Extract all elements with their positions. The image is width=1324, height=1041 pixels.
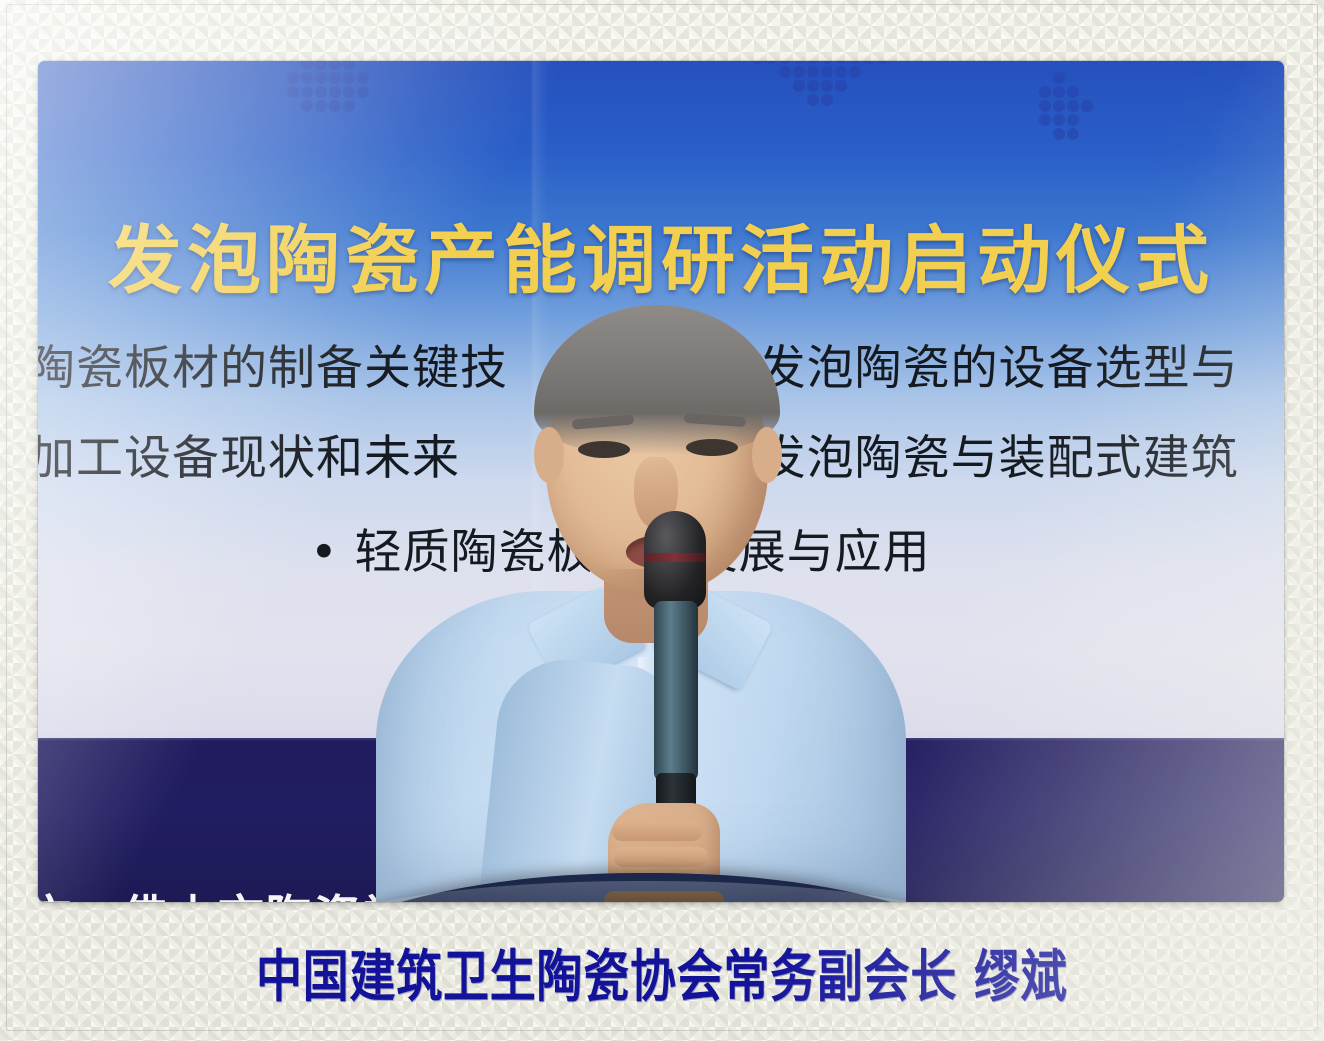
caption-bar: 中国建筑卫生陶瓷协会常务副会长 缪斌	[0, 932, 1324, 1012]
photograph: 发泡陶瓷产能调研活动启动仪式 陶瓷板材的制备关键技 加工设备现状和未来 • 发泡…	[38, 61, 1284, 902]
backdrop-seam	[38, 61, 1284, 742]
banner-bullet-center: • 轻质陶瓷板材的发展与应用	[310, 513, 931, 582]
photo-frame: 发泡陶瓷产能调研活动启动仪式 陶瓷板材的制备关键技 加工设备现状和未来 • 发泡…	[0, 0, 1324, 1041]
banner-bullet-right-1: • 发泡陶瓷的设备选型与	[714, 329, 1239, 398]
caption-text: 中国建筑卫生陶瓷协会常务副会长 缪斌	[256, 932, 1067, 1013]
backdrop-bottom-band	[38, 738, 1284, 902]
banner-title: 发泡陶瓷产能调研活动启动仪式	[38, 201, 1284, 308]
banner-bullet-left-2: 加工设备现状和未来	[38, 419, 460, 488]
banner-organizer-line: 方：佛山市陶瓷学会 生陶瓷协会生态建陶	[38, 881, 908, 902]
banner-bullet-left-1: 陶瓷板材的制备关键技	[38, 329, 508, 398]
dot-matrix-left	[286, 61, 370, 113]
banner-bullet-right-2: • 发泡陶瓷与装配式建筑	[714, 419, 1239, 488]
dot-matrix-right-b	[1038, 71, 1094, 141]
dot-matrix-right-a	[750, 61, 890, 107]
